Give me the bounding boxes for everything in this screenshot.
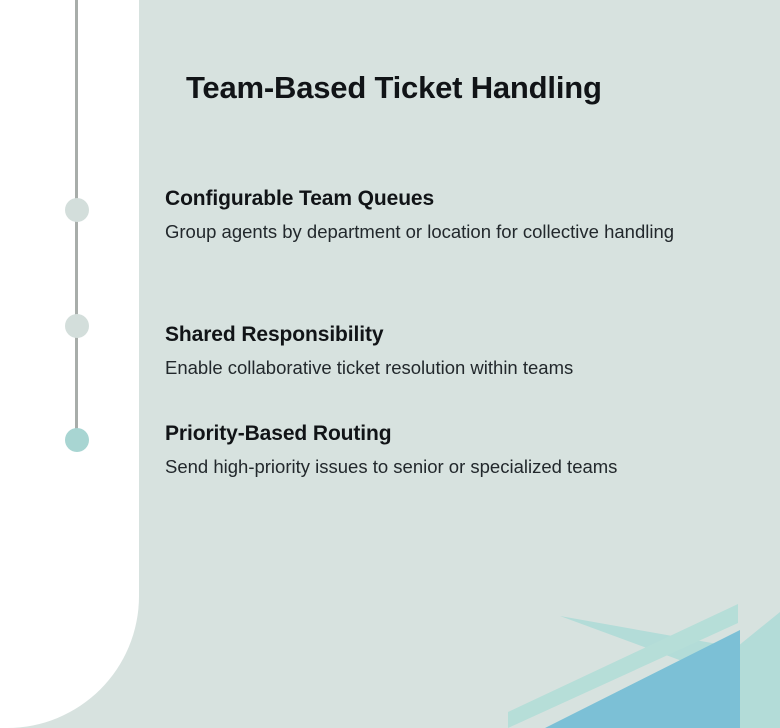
feature-heading: Priority-Based Routing	[165, 422, 755, 446]
feature-description: Send high-priority issues to senior or s…	[165, 452, 740, 482]
feature-description: Enable collaborative ticket resolution w…	[165, 353, 740, 383]
timeline-dot-1	[65, 198, 89, 222]
timeline-rail	[0, 0, 139, 728]
timeline-dot-3	[65, 428, 89, 452]
slide-canvas: Team-Based Ticket Handling Configurable …	[0, 0, 780, 728]
feature-item: Shared Responsibility Enable collaborati…	[165, 323, 755, 383]
timeline-dot-2	[65, 314, 89, 338]
feature-description: Group agents by department or location f…	[165, 217, 740, 247]
feature-heading: Configurable Team Queues	[165, 187, 755, 211]
feature-heading: Shared Responsibility	[165, 323, 755, 347]
feature-item: Configurable Team Queues Group agents by…	[165, 187, 755, 247]
content-area: Team-Based Ticket Handling Configurable …	[165, 0, 765, 728]
feature-item: Priority-Based Routing Send high-priorit…	[165, 422, 755, 482]
page-title: Team-Based Ticket Handling	[186, 70, 602, 106]
